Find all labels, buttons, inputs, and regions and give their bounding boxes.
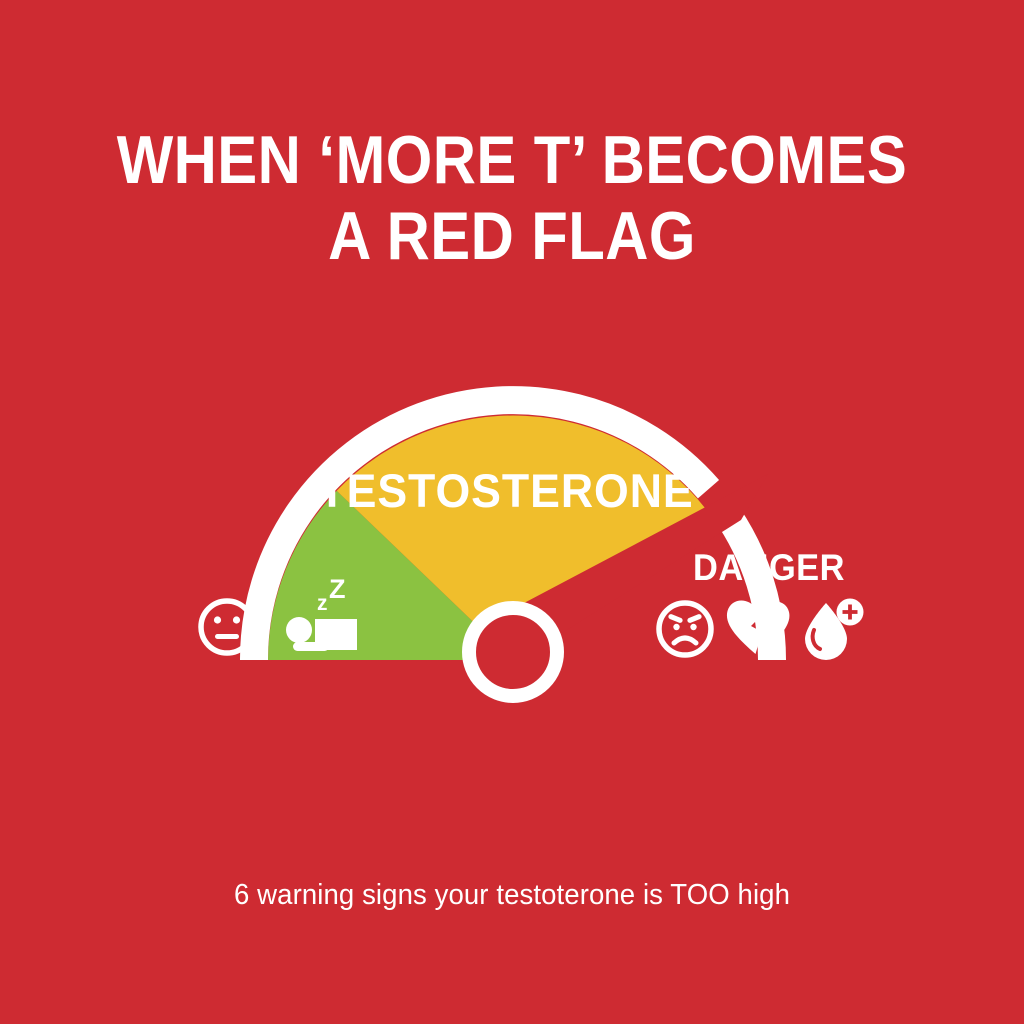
sleeping-person-icon: z Z [286, 574, 357, 651]
infographic-poster: WHEN ‘MORE T’ BECOMES A RED FLAG [0, 0, 1024, 1024]
page-title: WHEN ‘MORE T’ BECOMES A RED FLAG [0, 122, 1024, 274]
gauge-hub-ring [469, 608, 557, 696]
neutral-face-icon [201, 601, 253, 653]
gauge-needle [475, 474, 768, 688]
gauge-arc-band-main [254, 400, 709, 660]
title-line-1: WHEN ‘MORE T’ BECOMES [61, 122, 962, 198]
title-line-2: A RED FLAG [61, 198, 962, 274]
gauge-zone-low [268, 491, 513, 660]
gauge-arc-band-danger [725, 511, 772, 660]
caption-text: 6 warning signs your testoterone is TOO … [26, 877, 999, 913]
gauge-danger-label: DANGER [693, 548, 845, 588]
svg-text:z: z [317, 592, 328, 615]
broken-heart-icon [727, 600, 790, 654]
gauge-zone-danger [513, 509, 758, 660]
svg-text:Z: Z [329, 574, 346, 604]
gauge-dial-label: TESTOSTERONE [20, 466, 993, 516]
gauge-zone-normal [337, 416, 706, 660]
angry-face-icon [659, 603, 711, 655]
blood-drop-plus-icon [805, 599, 864, 661]
